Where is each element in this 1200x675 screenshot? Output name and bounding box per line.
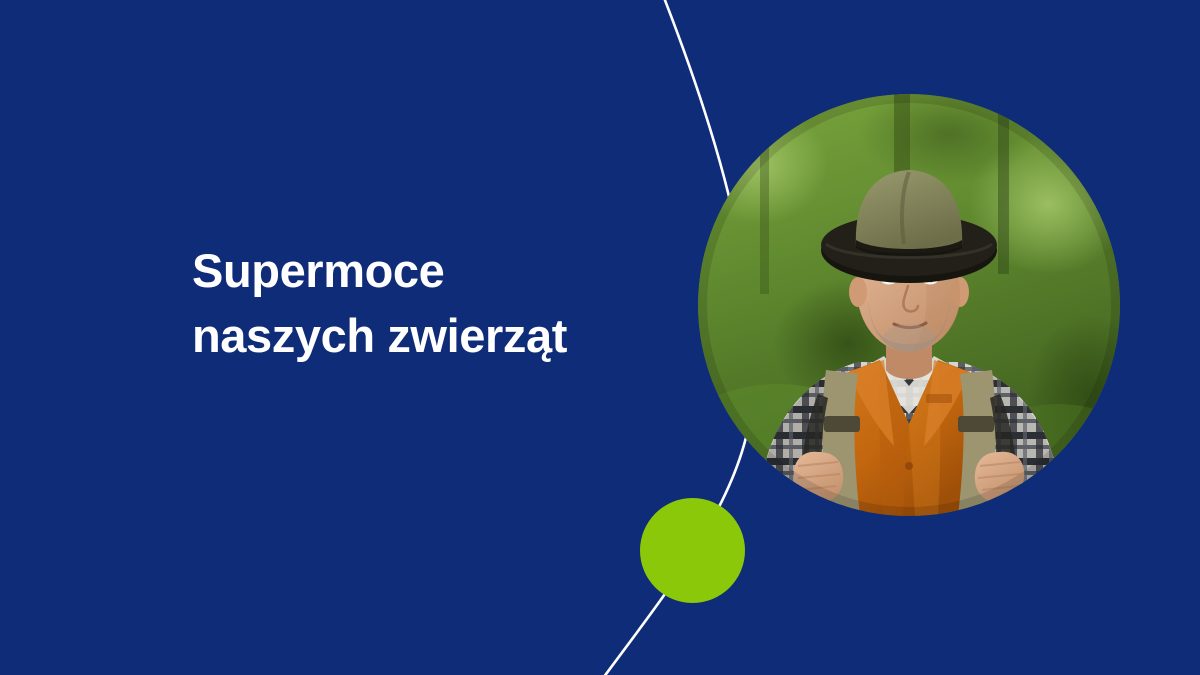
hero-photo (698, 94, 1120, 516)
page-title: Supermoce naszych zwierząt (192, 238, 662, 368)
slide-canvas: Supermoce naszych zwierząt (0, 0, 1200, 675)
hiker-portrait-illustration (698, 94, 1120, 516)
green-accent-dot (640, 498, 745, 603)
headline-line-1: Supermoce (192, 238, 662, 303)
headline-line-2: naszych zwierząt (192, 303, 662, 368)
